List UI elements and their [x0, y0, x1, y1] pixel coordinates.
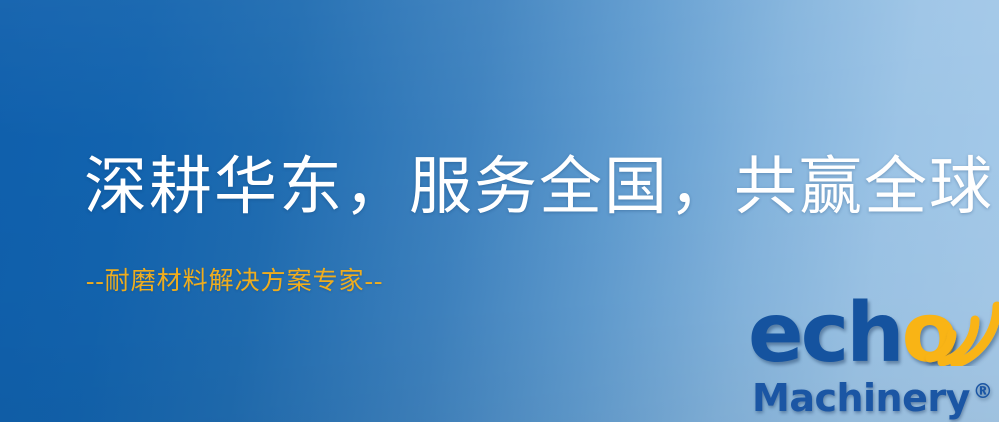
headline-text: 深耕华东，服务全国，共赢全球	[84, 148, 994, 226]
logo-wordmark-row: echo	[744, 296, 999, 376]
promo-banner: 深耕华东，服务全国，共赢全球 --耐磨材料解决方案专家-- echo Machi…	[0, 0, 999, 422]
logo-tagline: Machinery®	[752, 370, 993, 419]
subtitle-text: --耐磨材料解决方案专家--	[86, 266, 383, 298]
logo-wordmark-gold-o: o	[902, 286, 955, 381]
registered-trademark-icon: ®	[973, 379, 993, 403]
logo-wordmark: echo	[748, 292, 955, 376]
logo-wordmark-prefix: ech	[748, 286, 902, 381]
logo-tagline-text: Machinery	[752, 376, 970, 420]
echo-machinery-logo: echo Machinery®	[744, 296, 999, 422]
